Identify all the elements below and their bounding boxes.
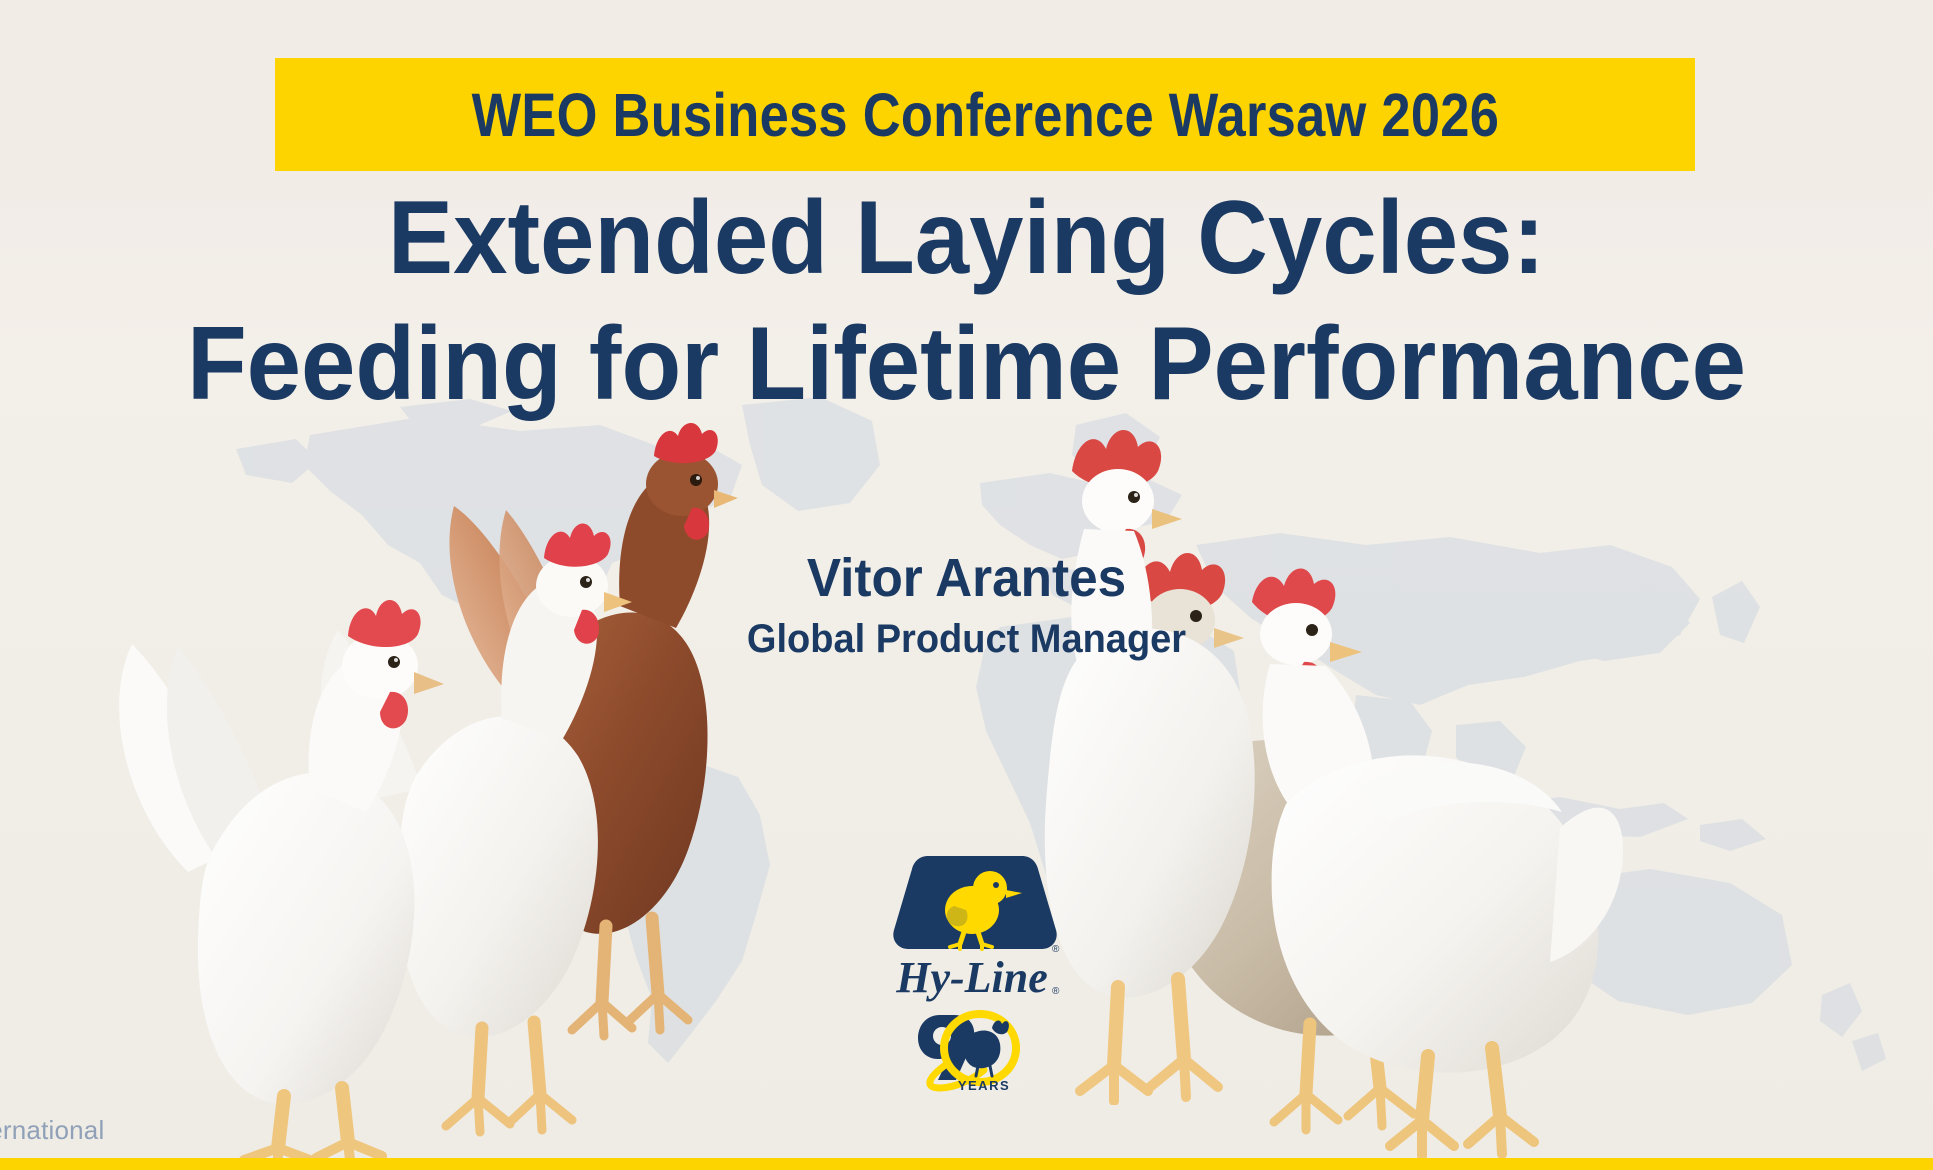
bottom-accent-bar <box>0 1158 1933 1170</box>
title-slide: WEO Business Conference Warsaw 2026 Exte… <box>0 0 1933 1170</box>
speaker-role: Global Product Manager <box>48 615 1884 663</box>
hy-line-wordmark: Hy-Line ® <box>895 953 1060 1002</box>
title-line-2: Feeding for Lifetime Performance <box>58 302 1875 428</box>
svg-text:Hy-Line: Hy-Line <box>895 953 1048 1002</box>
anniversary-years-label: YEARS <box>958 1078 1010 1092</box>
footer-credit: ne International <box>0 1115 104 1146</box>
page-title: Extended Laying Cycles: Feeding for Life… <box>0 176 1933 428</box>
speaker-info: Vitor Arantes Global Product Manager <box>0 548 1933 663</box>
hy-line-logo: ® Hy-Line ® YEARS <box>880 852 1070 1092</box>
anniversary-mark: YEARS <box>918 1014 1016 1092</box>
conference-banner-text: WEO Business Conference Warsaw 2026 <box>471 80 1499 150</box>
conference-banner: WEO Business Conference Warsaw 2026 <box>275 58 1695 171</box>
badge-registered-mark: ® <box>1052 944 1060 955</box>
title-line-1: Extended Laying Cycles: <box>58 176 1875 302</box>
svg-text:®: ® <box>1052 986 1060 997</box>
speaker-name: Vitor Arantes <box>48 548 1884 608</box>
